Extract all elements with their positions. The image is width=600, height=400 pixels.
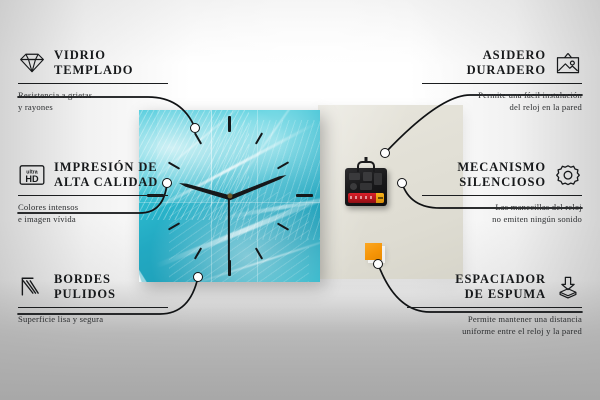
callout-rule: [422, 195, 582, 197]
foam-spacer-icon: [554, 275, 582, 299]
callout-rule: [407, 307, 582, 309]
callout-bordes-pulidos: BORDES PULIDOS Superficie lisa y segura: [18, 272, 168, 325]
movement-detail: [350, 183, 357, 190]
gear-icon: [554, 163, 582, 187]
foam-spacer: [365, 243, 382, 260]
battery-positive-terminal: [376, 193, 384, 203]
connector-dot-bordes: [193, 272, 203, 282]
svg-text:HD: HD: [25, 174, 39, 184]
diamond-icon: [18, 51, 46, 75]
callout-title: ASIDERO DURADERO: [467, 48, 546, 79]
glass-pane-line: [211, 110, 212, 282]
callout-rule: [18, 83, 168, 85]
clock-tick-6: [228, 260, 231, 276]
callout-rule: [18, 307, 168, 309]
clock-tick-12: [228, 116, 231, 132]
ultra-hd-icon: ultra HD: [18, 163, 46, 187]
connector-dot-vidrio: [190, 123, 200, 133]
callout-asidero-duradero: ASIDERO DURADERO Permite una fácil insta…: [422, 48, 582, 113]
movement-hanger-hook: [357, 161, 375, 172]
callout-title: BORDES PULIDOS: [54, 272, 116, 303]
battery-label: [350, 196, 375, 199]
callout-mecanismo-silencioso: MECANISMO SILENCIOSO Las manecillas del …: [422, 160, 582, 225]
connector-dot-mecanismo: [397, 178, 407, 188]
connector-dot-asidero: [380, 148, 390, 158]
callout-header: ESPACIADOR DE ESPUMA: [407, 272, 582, 303]
callout-title: VIDRIO TEMPLADO: [54, 48, 133, 79]
clock-tick-3: [296, 194, 313, 197]
callout-title: MECANISMO SILENCIOSO: [457, 160, 546, 191]
callout-rule: [18, 195, 168, 197]
callout-header: ultra HD IMPRESIÓN DE ALTA CALIDAD: [18, 160, 168, 191]
connector-dot-espaciador: [373, 259, 383, 269]
movement-detail: [360, 183, 372, 190]
callout-title: IMPRESIÓN DE ALTA CALIDAD: [54, 160, 158, 191]
callout-espaciador-espuma: ESPACIADOR DE ESPUMA Permite mantener un…: [407, 272, 582, 337]
movement-detail: [363, 172, 372, 181]
callout-header: MECANISMO SILENCIOSO: [422, 160, 582, 191]
callout-vidrio-templado: VIDRIO TEMPLADO Resistencia a grietas y …: [18, 48, 168, 113]
product-infographic: VIDRIO TEMPLADO Resistencia a grietas y …: [0, 0, 600, 400]
clock-movement: [345, 168, 387, 206]
movement-detail: [374, 173, 382, 185]
callout-header: VIDRIO TEMPLADO: [18, 48, 168, 79]
callout-header: BORDES PULIDOS: [18, 272, 168, 303]
polished-edges-icon: [18, 275, 46, 299]
callout-impresion-alta-calidad: ultra HD IMPRESIÓN DE ALTA CALIDAD Color…: [18, 160, 168, 225]
callout-title: ESPACIADOR DE ESPUMA: [455, 272, 546, 303]
movement-detail: [349, 173, 360, 180]
clock-center-cap: [227, 194, 232, 199]
battery: [348, 193, 384, 203]
wall-hanger-icon: [554, 51, 582, 75]
clock-second-hand: [228, 197, 230, 261]
callout-header: ASIDERO DURADERO: [422, 48, 582, 79]
callout-rule: [422, 83, 582, 85]
